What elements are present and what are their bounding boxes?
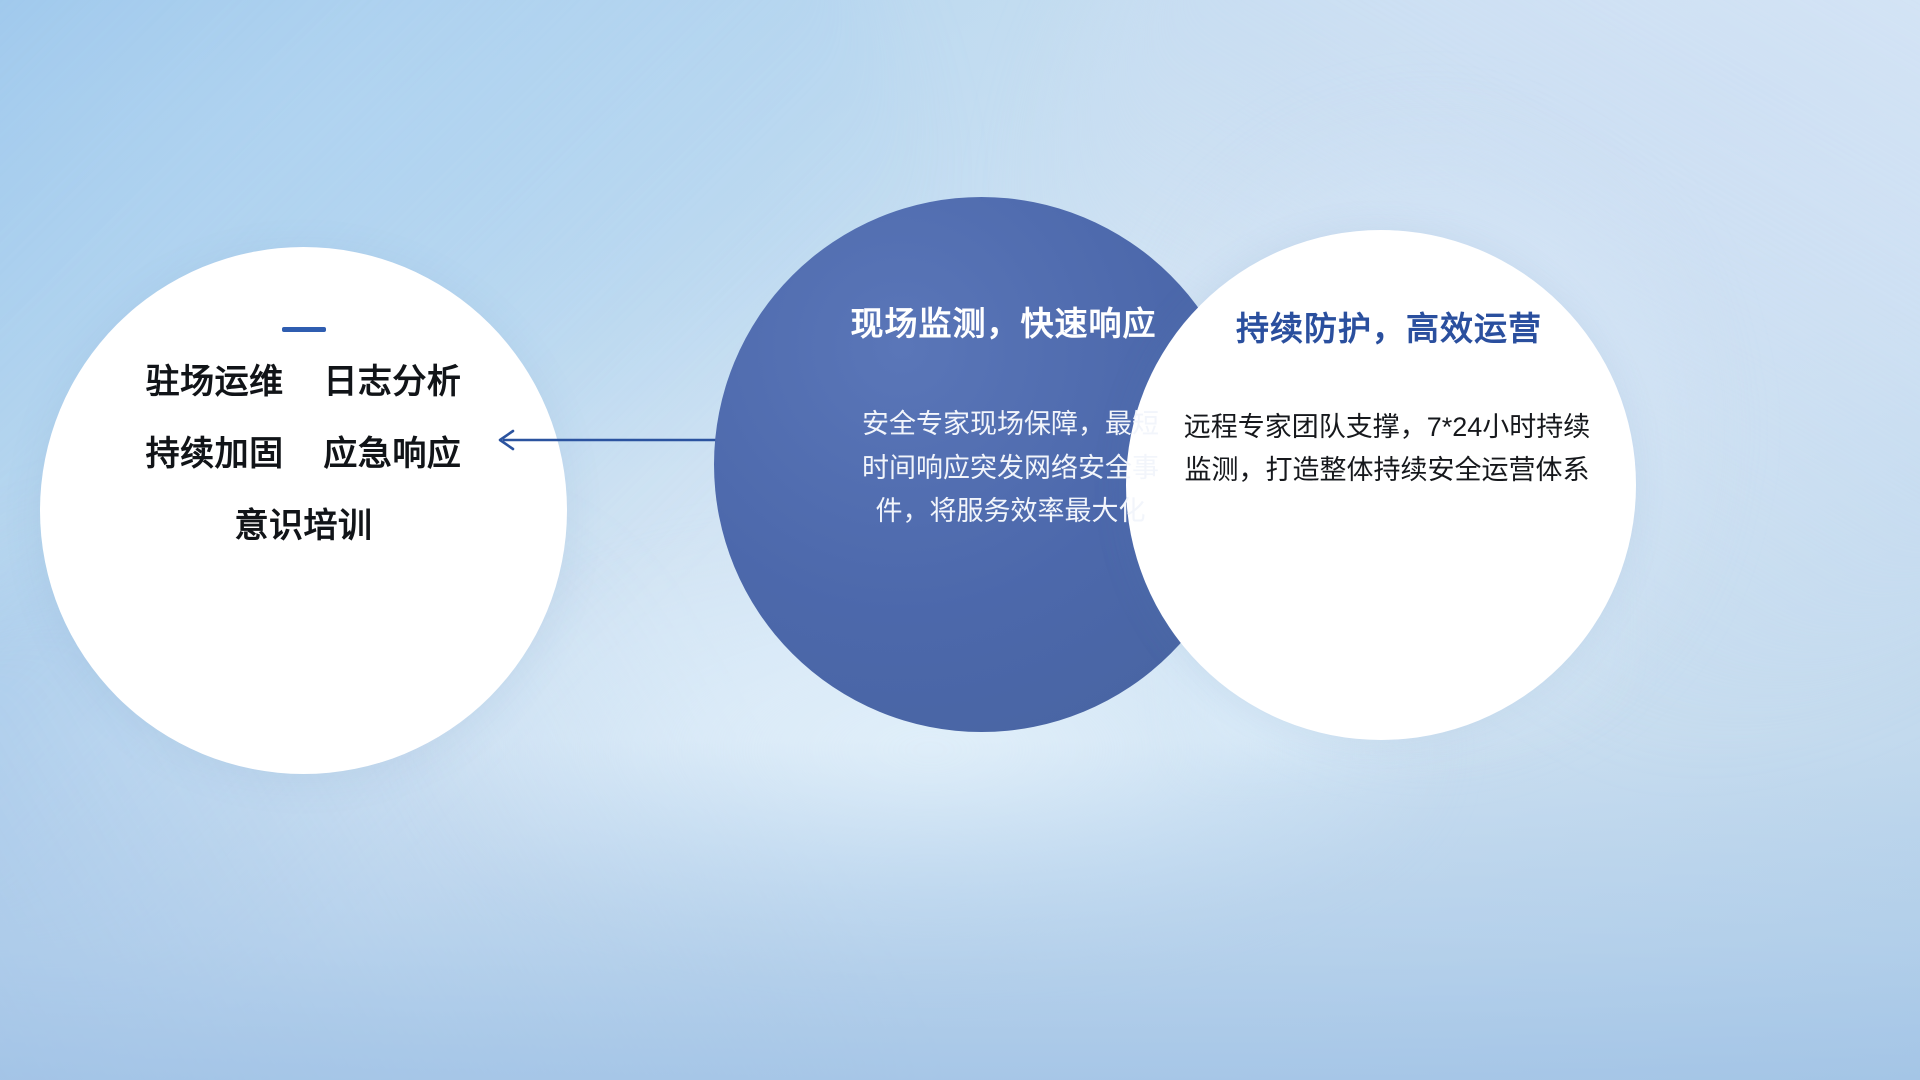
list-item: 意识培训 [40, 509, 567, 543]
left-circle-keyword-list: 驻场运维 日志分析 持续加固 应急响应 意识培训 [40, 365, 567, 543]
list-item: 持续加固 应急响应 [40, 437, 567, 471]
right-circle-body: 远程专家团队支撑，7*24小时持续监测，打造整体持续安全运营体系 [1165, 406, 1597, 492]
right-circle-title: 持续防护，高效运营 [1220, 302, 1542, 350]
background-bottom-vignette [0, 740, 1920, 1080]
list-item: 驻场运维 日志分析 [40, 365, 567, 399]
right-circle-content: 持续防护，高效运营 远程专家团队支撑，7*24小时持续监测，打造整体持续安全运营… [1126, 230, 1636, 740]
slide-canvas: 驻场运维 日志分析 持续加固 应急响应 意识培训 现场监测，快速响应 安全专家现… [0, 0, 1920, 1080]
divider-rule [282, 327, 326, 332]
left-circle-content: 驻场运维 日志分析 持续加固 应急响应 意识培训 [40, 247, 567, 774]
